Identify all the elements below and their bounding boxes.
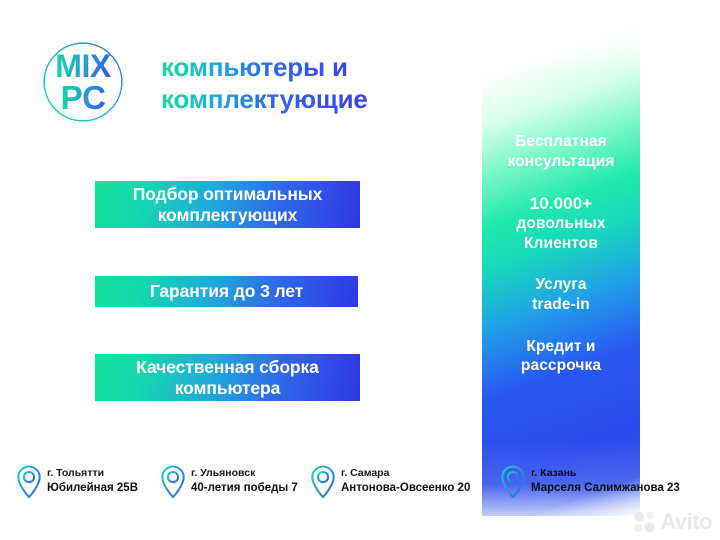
feature-box-optimal-parts: Подбор оптимальных комплектующих (95, 181, 360, 228)
store-location-kazan: г. Казань Марселя Салимжанова 23 (500, 465, 680, 498)
feature-box-1-line-1: Гарантия до 3 лет (150, 281, 303, 301)
map-pin-icon (16, 465, 42, 498)
store-street-1: 40-летия победы 7 (191, 481, 298, 496)
promo-poster: Бесплатная консультация 10.000+ довольны… (0, 0, 720, 540)
feature-box-0-text: Подбор оптимальных комплектующих (127, 184, 329, 225)
side-benefit-0-line-1: Бесплатная (482, 132, 640, 152)
side-benefit-0: Бесплатная консультация (482, 132, 640, 171)
store-street-0: Юбилейная 25В (47, 481, 138, 496)
feature-box-2-text: Качественная сборка компьютера (130, 357, 325, 398)
map-pin-icon (500, 465, 526, 498)
store-location-ulyanovsk: г. Ульяновск 40-летия победы 7 (160, 465, 298, 498)
side-benefit-2: Услуга trade-in (482, 275, 640, 314)
store-street-3: Марселя Салимжанова 23 (531, 481, 680, 496)
headline-line-2: комплектующие (161, 84, 461, 116)
side-benefit-1: 10.000+ довольных Клиентов (482, 193, 640, 253)
feature-box-1-text: Гарантия до 3 лет (144, 281, 309, 301)
logo-wordmark: MIX PC (27, 26, 139, 138)
side-benefit-1-line-1: 10.000+ (482, 193, 640, 214)
brand-logo: MIX PC (27, 26, 139, 138)
store-location-samara-text: г. Самара Антонова-Овсеенко 20 (341, 467, 470, 495)
store-city-1: г. Ульяновск (191, 467, 298, 480)
store-street-2: Антонова-Овсеенко 20 (341, 481, 470, 496)
avito-logo-icon (633, 510, 657, 534)
feature-box-2-line-2: компьютера (136, 378, 319, 398)
store-city-3: г. Казань (531, 467, 680, 480)
logo-word-mix: MIX (55, 51, 110, 81)
avito-watermark-text: Avito (660, 509, 712, 535)
side-benefit-3-line-2: рассрочка (482, 356, 640, 376)
feature-box-2-line-1: Качественная сборка (136, 357, 319, 377)
store-locations-bar: г. Тольятти Юбилейная 25В г. Ульяновск 4… (0, 463, 720, 513)
feature-box-0-line-1: Подбор оптимальных (133, 184, 323, 204)
map-pin-icon (160, 465, 186, 498)
store-location-ulyanovsk-text: г. Ульяновск 40-летия победы 7 (191, 467, 298, 495)
store-city-2: г. Самара (341, 467, 470, 480)
feature-box-quality-build: Качественная сборка компьютера (95, 354, 360, 401)
store-city-0: г. Тольятти (47, 467, 138, 480)
store-location-tolyatti: г. Тольятти Юбилейная 25В (16, 465, 138, 498)
store-location-samara: г. Самара Антонова-Овсеенко 20 (310, 465, 470, 498)
side-benefit-3-line-1: Кредит и (482, 337, 640, 357)
side-benefit-0-line-2: консультация (482, 152, 640, 172)
avito-watermark: Avito (633, 509, 712, 535)
store-location-tolyatti-text: г. Тольятти Юбилейная 25В (47, 467, 138, 495)
store-location-kazan-text: г. Казань Марселя Салимжанова 23 (531, 467, 680, 495)
side-benefit-1-line-2: довольных (482, 214, 640, 234)
logo-word-pc: PC (61, 82, 106, 113)
side-benefit-2-line-1: Услуга (482, 275, 640, 295)
feature-box-warranty: Гарантия до 3 лет (95, 276, 358, 307)
side-benefit-2-line-2: trade-in (482, 295, 640, 315)
map-pin-icon (310, 465, 336, 498)
side-benefit-1-line-3: Клиентов (482, 234, 640, 254)
page-title: компьютеры и комплектующие (161, 52, 461, 115)
headline-line-1: компьютеры и (161, 52, 461, 84)
feature-box-0-line-2: комплектующих (133, 205, 323, 225)
side-benefits-list: Бесплатная консультация 10.000+ довольны… (482, 132, 640, 376)
side-benefit-3: Кредит и рассрочка (482, 337, 640, 376)
